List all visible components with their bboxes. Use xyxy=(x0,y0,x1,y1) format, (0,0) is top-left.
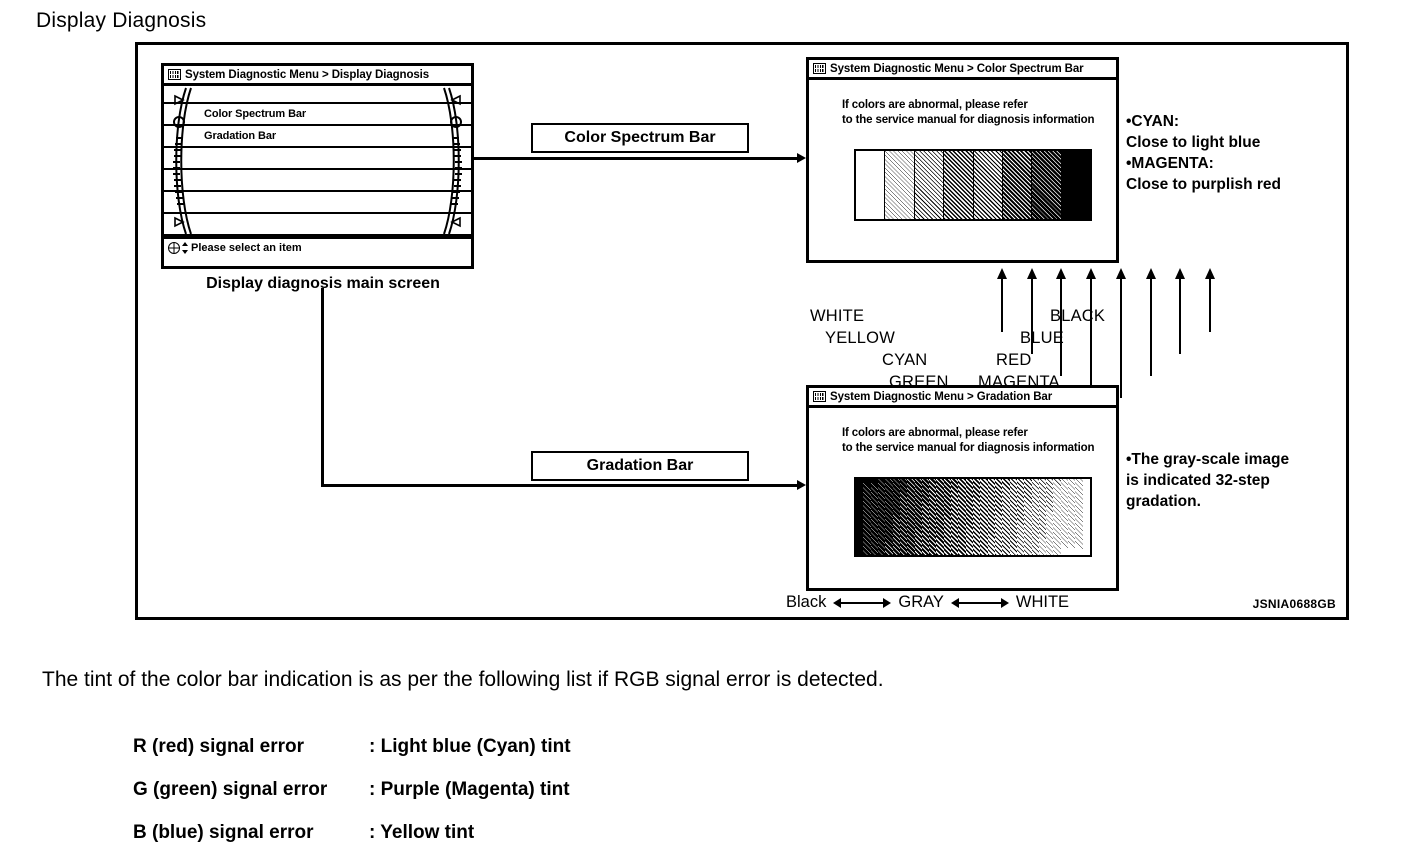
label-leader-blue xyxy=(1179,312,1181,354)
connector-arrow-color xyxy=(797,153,806,163)
page-title: Display Diagnosis xyxy=(36,9,206,33)
color-screen-titlebar: System Diagnostic Menu > Color Spectrum … xyxy=(809,60,1116,80)
color-bar-segment-blue xyxy=(1032,151,1061,219)
list-item: R (red) signal error : Light blue (Cyan)… xyxy=(133,736,571,779)
gradation-step-2 xyxy=(863,479,870,555)
pointer-arrow-red xyxy=(1150,278,1152,312)
connector-line-color xyxy=(474,157,799,160)
display-diagnosis-main-screen: System Diagnostic Menu > Display Diagnos… xyxy=(161,63,474,269)
color-bar-segment-yellow xyxy=(885,151,914,219)
side-note-line: is indicated 32-step xyxy=(1126,470,1289,491)
lead-paragraph: The tint of the color bar indication is … xyxy=(42,668,884,692)
list-item: B (blue) signal error : Yellow tint xyxy=(133,822,571,865)
side-note-line: •The gray-scale image xyxy=(1126,449,1289,470)
gradation-step-23 xyxy=(1017,479,1024,555)
note-line-2: to the service manual for diagnosis info… xyxy=(842,113,1116,128)
gradation-step-4 xyxy=(878,479,885,555)
list-item: G (green) signal error : Purple (Magenta… xyxy=(133,779,571,822)
connector-arrow-grad xyxy=(797,480,806,490)
gradation-step-30 xyxy=(1068,479,1075,555)
gradation-step-12 xyxy=(936,479,943,555)
color-bar-segment-magenta xyxy=(974,151,1003,219)
callout-label: Color Spectrum Bar xyxy=(564,129,715,147)
gradation-step-21 xyxy=(1002,479,1009,555)
note-line-1: If colors are abnormal, please refer xyxy=(842,426,1116,441)
main-screen-breadcrumb: System Diagnostic Menu > Display Diagnos… xyxy=(185,69,429,81)
error-tint: : Purple (Magenta) tint xyxy=(369,779,570,801)
gradation-step-28 xyxy=(1053,479,1060,555)
grad-screen-note: If colors are abnormal, please refer to … xyxy=(842,426,1116,456)
gradation-step-7 xyxy=(900,479,907,555)
error-name: G (green) signal error xyxy=(133,779,369,801)
gradation-step-3 xyxy=(871,479,878,555)
statusbar-text: Please select an item xyxy=(191,242,302,254)
gradation-screen-side-note: •The gray-scale image is indicated 32-st… xyxy=(1126,449,1289,512)
color-label-yellow: YELLOW xyxy=(825,329,895,348)
gradation-step-29 xyxy=(1061,479,1068,555)
gradation-step-5 xyxy=(885,479,892,555)
label-leader-black xyxy=(1209,312,1211,332)
side-note-line: •MAGENTA: xyxy=(1126,153,1281,174)
color-bar-segment-green xyxy=(944,151,973,219)
color-bar-segment-white xyxy=(856,151,885,219)
gradation-bar-caption: Black GRAY WHITE xyxy=(786,593,1069,612)
color-spectrum-bar xyxy=(854,149,1092,221)
gradation-step-6 xyxy=(893,479,900,555)
gradation-step-15 xyxy=(958,479,965,555)
pointer-arrow-white xyxy=(1001,278,1003,312)
callout-gradation-bar[interactable]: Gradation Bar xyxy=(531,451,749,481)
color-bar-segment-red xyxy=(1003,151,1032,219)
pointer-arrow-blue xyxy=(1179,278,1181,312)
error-tint: : Yellow tint xyxy=(369,822,474,844)
connector-line-grad-vertical xyxy=(321,288,324,486)
menu-list: Color Spectrum Bar Gradation Bar xyxy=(164,86,471,236)
gradation-step-18 xyxy=(980,479,987,555)
gradation-step-9 xyxy=(915,479,922,555)
note-line-2: to the service manual for diagnosis info… xyxy=(842,441,1116,456)
gradation-bar xyxy=(854,477,1092,557)
color-label-white: WHITE xyxy=(810,307,864,326)
gradation-step-20 xyxy=(995,479,1002,555)
menu-item-empty[interactable] xyxy=(164,170,471,192)
signal-error-list: R (red) signal error : Light blue (Cyan)… xyxy=(133,736,571,865)
gradation-step-17 xyxy=(973,479,980,555)
label-leader-magenta xyxy=(1120,312,1122,398)
menu-top-gap xyxy=(164,86,471,104)
menu-item-gradation-bar[interactable]: Gradation Bar xyxy=(164,126,471,148)
gradation-step-19 xyxy=(988,479,995,555)
up-down-arrow-icon xyxy=(181,242,188,254)
label-leader-white xyxy=(1001,312,1003,332)
gradation-step-27 xyxy=(1046,479,1053,555)
main-screen-body: Color Spectrum Bar Gradation Bar xyxy=(164,86,471,236)
callout-color-spectrum-bar[interactable]: Color Spectrum Bar xyxy=(531,123,749,153)
caption-right: WHITE xyxy=(1016,593,1069,612)
gradation-step-11 xyxy=(929,479,936,555)
color-bar-segment-black xyxy=(1062,151,1090,219)
menu-item-empty[interactable] xyxy=(164,192,471,214)
menu-item-empty[interactable] xyxy=(164,148,471,170)
main-screen-statusbar: Please select an item xyxy=(164,236,471,256)
caption-middle: GRAY xyxy=(898,593,944,612)
hud-screen-icon xyxy=(168,69,181,80)
note-line-1: If colors are abnormal, please refer xyxy=(842,98,1116,113)
hud-screen-icon xyxy=(813,63,826,74)
side-note-line: Close to light blue xyxy=(1126,132,1281,153)
side-note-line: •CYAN: xyxy=(1126,111,1281,132)
color-screen-breadcrumb: System Diagnostic Menu > Color Spectrum … xyxy=(830,63,1084,75)
color-label-black: BLACK xyxy=(1050,307,1105,326)
connector-line-grad-horizontal xyxy=(321,484,799,487)
callout-label: Gradation Bar xyxy=(587,457,694,475)
pointer-arrow-black xyxy=(1209,278,1211,312)
color-label-blue: BLUE xyxy=(1020,329,1064,348)
menu-item-color-spectrum-bar[interactable]: Color Spectrum Bar xyxy=(164,104,471,126)
color-label-red: RED xyxy=(996,351,1031,370)
error-tint: : Light blue (Cyan) tint xyxy=(369,736,571,758)
label-leader-red xyxy=(1150,312,1152,376)
gradation-bar-screen: System Diagnostic Menu > Gradation Bar I… xyxy=(806,385,1119,591)
figure-frame: System Diagnostic Menu > Display Diagnos… xyxy=(135,42,1349,620)
gradation-step-22 xyxy=(1010,479,1017,555)
side-note-line: gradation. xyxy=(1126,491,1289,512)
gradation-step-10 xyxy=(922,479,929,555)
gradation-step-24 xyxy=(1024,479,1031,555)
caption-left: Black xyxy=(786,593,826,612)
gradation-step-26 xyxy=(1039,479,1046,555)
pointer-arrow-magenta xyxy=(1120,278,1122,312)
pointer-arrow-yellow xyxy=(1031,278,1033,312)
grad-screen-breadcrumb: System Diagnostic Menu > Gradation Bar xyxy=(830,391,1052,403)
gradation-step-31 xyxy=(1075,479,1082,555)
error-name: B (blue) signal error xyxy=(133,822,369,844)
color-screen-side-note: •CYAN: Close to light blue •MAGENTA: Clo… xyxy=(1126,111,1281,195)
gradation-step-25 xyxy=(1032,479,1039,555)
color-screen-note: If colors are abnormal, please refer to … xyxy=(842,98,1116,128)
double-arrow-icon xyxy=(951,597,1009,609)
figure-id: JSNIA0688GB xyxy=(1253,597,1336,611)
color-bar-segment-cyan xyxy=(915,151,944,219)
main-screen-titlebar: System Diagnostic Menu > Display Diagnos… xyxy=(164,66,471,86)
menu-item-empty[interactable] xyxy=(164,214,471,236)
gradation-step-8 xyxy=(907,479,914,555)
gradation-step-13 xyxy=(944,479,951,555)
gradation-step-1 xyxy=(856,479,863,555)
color-spectrum-bar-screen: System Diagnostic Menu > Color Spectrum … xyxy=(806,57,1119,263)
globe-icon xyxy=(168,242,180,254)
double-arrow-icon xyxy=(833,597,891,609)
gradation-step-14 xyxy=(951,479,958,555)
color-label-cyan: CYAN xyxy=(882,351,927,370)
error-name: R (red) signal error xyxy=(133,736,369,758)
grad-screen-titlebar: System Diagnostic Menu > Gradation Bar xyxy=(809,388,1116,408)
menu-item-label: Color Spectrum Bar xyxy=(204,108,306,120)
menu-item-label: Gradation Bar xyxy=(204,130,276,142)
side-note-line: Close to purplish red xyxy=(1126,174,1281,195)
hud-screen-icon xyxy=(813,391,826,402)
gradation-step-16 xyxy=(966,479,973,555)
gradation-step-32 xyxy=(1083,479,1090,555)
